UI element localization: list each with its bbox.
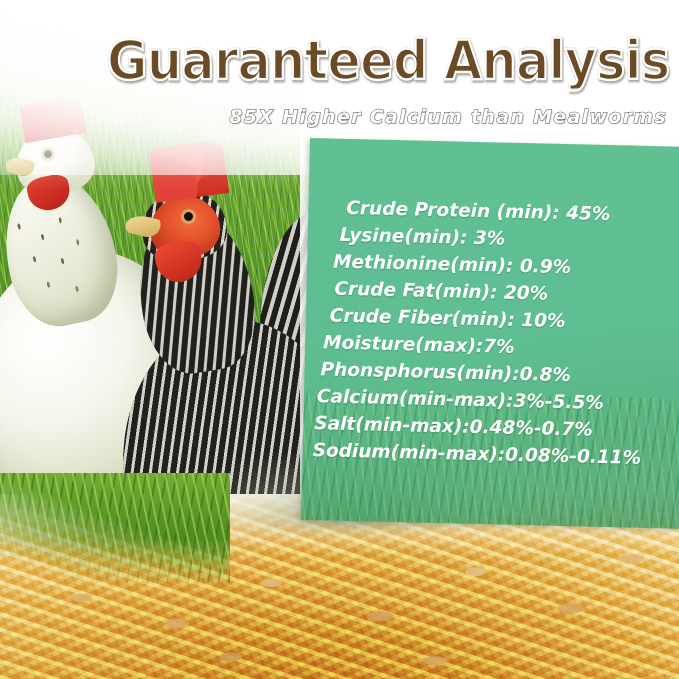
guaranteed-analysis-panel: Crude Protein (min): 45% Lysine(min): 3%… [301, 138, 679, 529]
headline-area: Guaranteed Analysis [0, 22, 679, 100]
nutrition-list: Crude Protein (min): 45% Lysine(min): 3%… [302, 194, 679, 473]
page-title: Guaranteed Analysis [106, 34, 669, 88]
barred-hen-eye [184, 212, 193, 221]
product-infographic: Guaranteed Analysis 85X Higher Calcium t… [0, 0, 679, 679]
page-subtitle: 85X Higher Calcium than Mealworms [229, 106, 667, 128]
subheadline-area: 85X Higher Calcium than Mealworms [0, 100, 679, 134]
foreground-grass-tuft [0, 473, 230, 583]
